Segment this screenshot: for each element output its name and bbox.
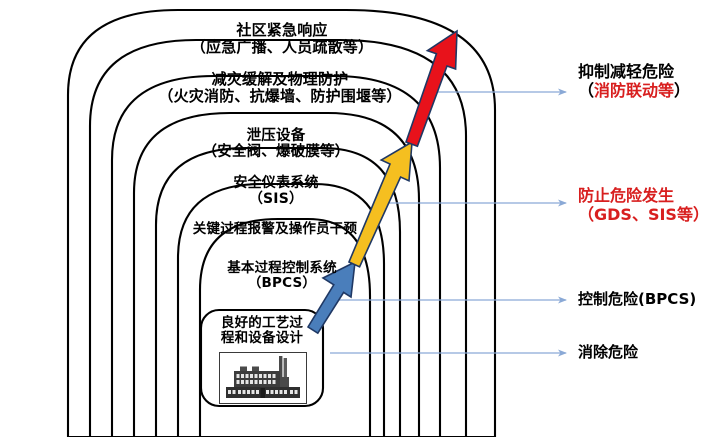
side-label-1-paren-open: （: [578, 81, 594, 100]
side-label-2-paren-open: （: [578, 205, 594, 224]
factory-illustration: [219, 352, 307, 404]
side-label-2: 防止危险发生 （GDS、SIS等）: [578, 186, 709, 224]
side-label-3: 控制危险(BPCS): [578, 290, 696, 308]
side-label-2-paren-close: ）: [693, 205, 709, 224]
side-label-2-sub: （GDS、SIS等）: [578, 205, 709, 224]
diagram-canvas: 社区紧急响应 （应急广播、人员疏散等） 减灾缓解及物理防护 （火灾消防、抗爆墙、…: [0, 0, 727, 437]
side-label-3-main: 控制危险(BPCS): [578, 290, 696, 308]
side-label-2-main: 防止危险发生: [578, 186, 709, 205]
side-label-1-main: 抑制减轻危险: [578, 62, 690, 81]
side-label-1: 抑制减轻危险 （消防联动等）: [578, 62, 690, 100]
side-label-1-paren-close: ）: [674, 81, 690, 100]
side-label-1-sub: （消防联动等）: [578, 81, 690, 100]
factory-icon: [220, 353, 306, 403]
side-label-1-sub-text: 消防联动等: [594, 81, 674, 100]
side-label-4: 消除危险: [578, 343, 638, 361]
side-label-2-sub-text: GDS、SIS等: [594, 205, 693, 224]
side-label-4-main: 消除危险: [578, 343, 638, 361]
